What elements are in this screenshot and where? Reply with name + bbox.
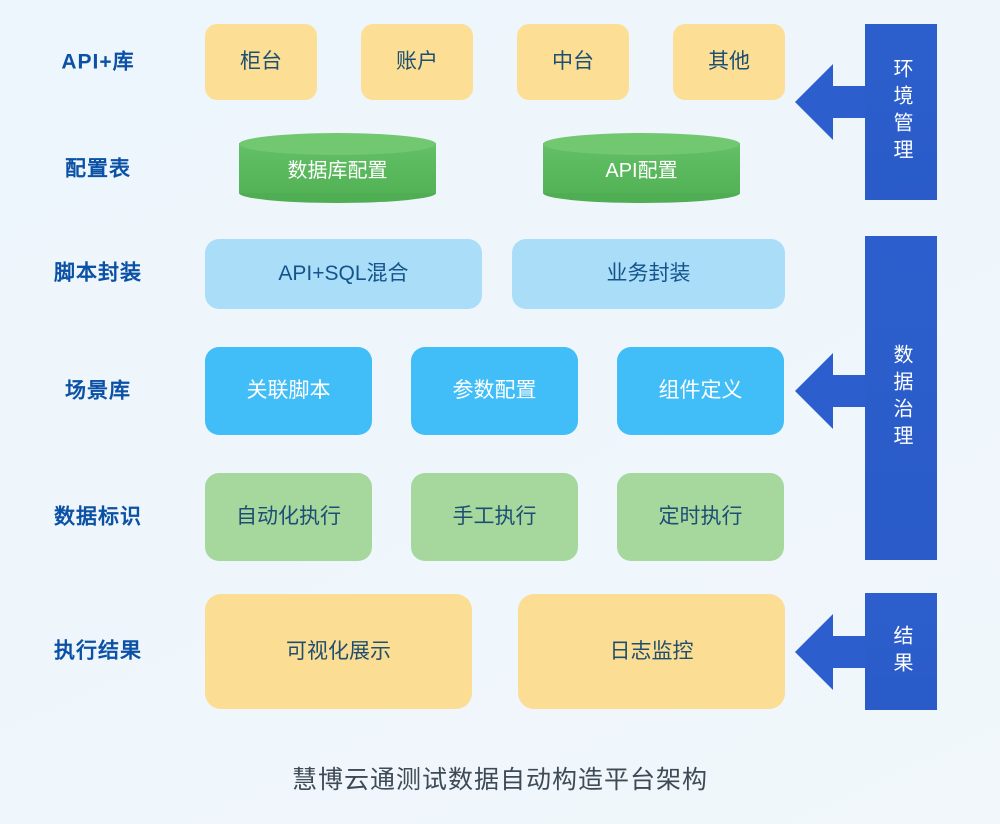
row-label-data-identification: 数据标识 — [0, 507, 196, 528]
side-panel-environment-management[interactable]: 环境管理 — [865, 24, 937, 200]
side-panel-label: 环境管理 — [891, 58, 911, 166]
diagram-caption: 慧博云通测试数据自动构造平台架构 — [0, 760, 1000, 796]
node-visualization-display[interactable]: 可视化展示 — [205, 594, 472, 709]
node-label: 组件定义 — [659, 379, 743, 402]
node-label: 其他 — [708, 50, 750, 73]
side-panel-label: 结果 — [891, 625, 911, 679]
node-middle-platform[interactable]: 中台 — [517, 24, 629, 100]
node-other[interactable]: 其他 — [673, 24, 785, 100]
node-label: 日志监控 — [610, 640, 694, 663]
node-label: 手工执行 — [453, 505, 537, 528]
side-panel-label: 数据治理 — [891, 344, 911, 452]
side-panel-data-governance[interactable]: 数据治理 — [865, 236, 937, 560]
side-panel-result[interactable]: 结果 — [865, 593, 937, 710]
row-label-config-table: 配置表 — [0, 159, 196, 180]
node-linked-script[interactable]: 关联脚本 — [205, 347, 372, 435]
node-business-encapsulation[interactable]: 业务封装 — [512, 239, 785, 309]
node-api-sql-mixed[interactable]: API+SQL混合 — [205, 239, 482, 309]
node-label: 账户 — [396, 50, 438, 73]
row-label-api-library: API+库 — [0, 52, 196, 73]
cylinder-database-config[interactable]: 数据库配置 — [239, 133, 436, 203]
node-label: 数据库配置 — [239, 133, 436, 203]
node-label: 可视化展示 — [286, 640, 391, 663]
arrow-left-environment-management — [795, 62, 870, 142]
node-component-definition[interactable]: 组件定义 — [617, 347, 784, 435]
row-label-script-encapsulation: 脚本封装 — [0, 263, 196, 284]
node-label: 参数配置 — [453, 379, 537, 402]
node-label: 中台 — [552, 50, 594, 73]
node-label: 柜台 — [240, 50, 282, 73]
node-counter[interactable]: 柜台 — [205, 24, 317, 100]
node-label: 关联脚本 — [247, 379, 331, 402]
node-parameter-config[interactable]: 参数配置 — [411, 347, 578, 435]
node-label: 定时执行 — [659, 505, 743, 528]
node-label: 业务封装 — [607, 262, 691, 285]
arrow-left-result — [795, 612, 870, 692]
cylinder-api-config[interactable]: API配置 — [543, 133, 740, 203]
row-label-scenario-library: 场景库 — [0, 381, 196, 402]
node-account[interactable]: 账户 — [361, 24, 473, 100]
arrow-left-data-governance — [795, 351, 870, 431]
row-label-execution-result: 执行结果 — [0, 641, 196, 662]
architecture-diagram: API+库 配置表 脚本封装 场景库 数据标识 执行结果 柜台 账户 中台 其他… — [0, 0, 1000, 824]
node-automated-execution[interactable]: 自动化执行 — [205, 473, 372, 561]
node-label: API配置 — [543, 133, 740, 203]
node-label: 自动化执行 — [236, 505, 341, 528]
node-scheduled-execution[interactable]: 定时执行 — [617, 473, 784, 561]
node-log-monitoring[interactable]: 日志监控 — [518, 594, 785, 709]
node-manual-execution[interactable]: 手工执行 — [411, 473, 578, 561]
node-label: API+SQL混合 — [278, 262, 408, 285]
